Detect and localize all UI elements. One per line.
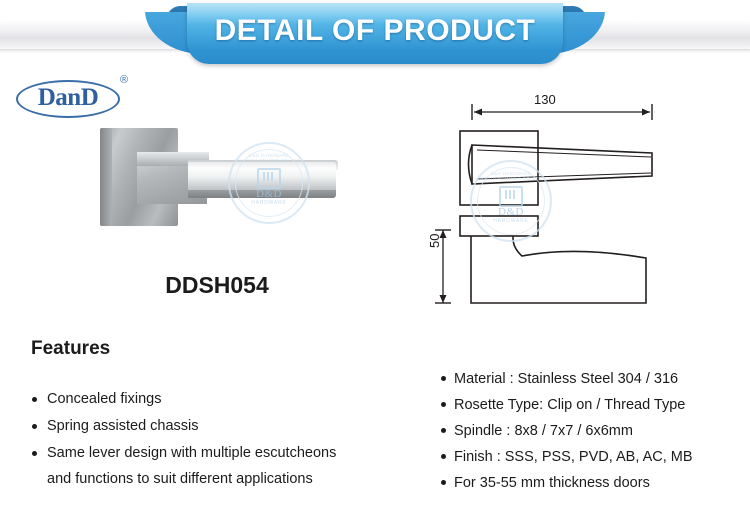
lever-bar-underside — [188, 190, 336, 198]
product-model-number: DDSH054 — [92, 272, 342, 299]
ribbon-wing-left — [133, 12, 191, 56]
features-list: Concealed fixings Spring assisted chassi… — [31, 386, 381, 492]
feature-item: Spring assisted chassis — [31, 413, 381, 440]
feature-item: Concealed fixings — [31, 386, 381, 413]
dimension-height-label: 50 — [427, 234, 442, 248]
spec-item-door-thickness: For 35-55 mm thickness doors — [440, 470, 750, 496]
spec-item-finish: Finish : SSS, PSS, PVD, AB, AC, MB — [440, 444, 750, 470]
registered-trademark-icon: ® — [120, 74, 128, 86]
logo-text: DanD — [16, 80, 120, 118]
spec-item-rosette-type: Rosette Type: Clip on / Thread Type — [440, 392, 750, 418]
technical-drawing — [425, 88, 750, 313]
feature-item: Same lever design with multiple escutche… — [31, 440, 381, 492]
specifications-list: Material : Stainless Steel 304 / 316 Ros… — [440, 366, 750, 496]
rosette-edge — [100, 128, 112, 226]
brand-logo: DanD ® — [16, 70, 136, 122]
page-header: DETAIL OF PRODUCT — [0, 0, 750, 72]
ribbon-wing-right — [559, 12, 617, 56]
page-title: DETAIL OF PRODUCT — [187, 14, 563, 48]
spec-item-spindle: Spindle : 8x8 / 7x7 / 6x6mm — [440, 418, 750, 444]
dimension-width-label: 130 — [534, 92, 556, 107]
features-heading: Features — [31, 338, 110, 360]
product-photo — [92, 118, 340, 238]
spec-item-material: Material : Stainless Steel 304 / 316 — [440, 366, 750, 392]
